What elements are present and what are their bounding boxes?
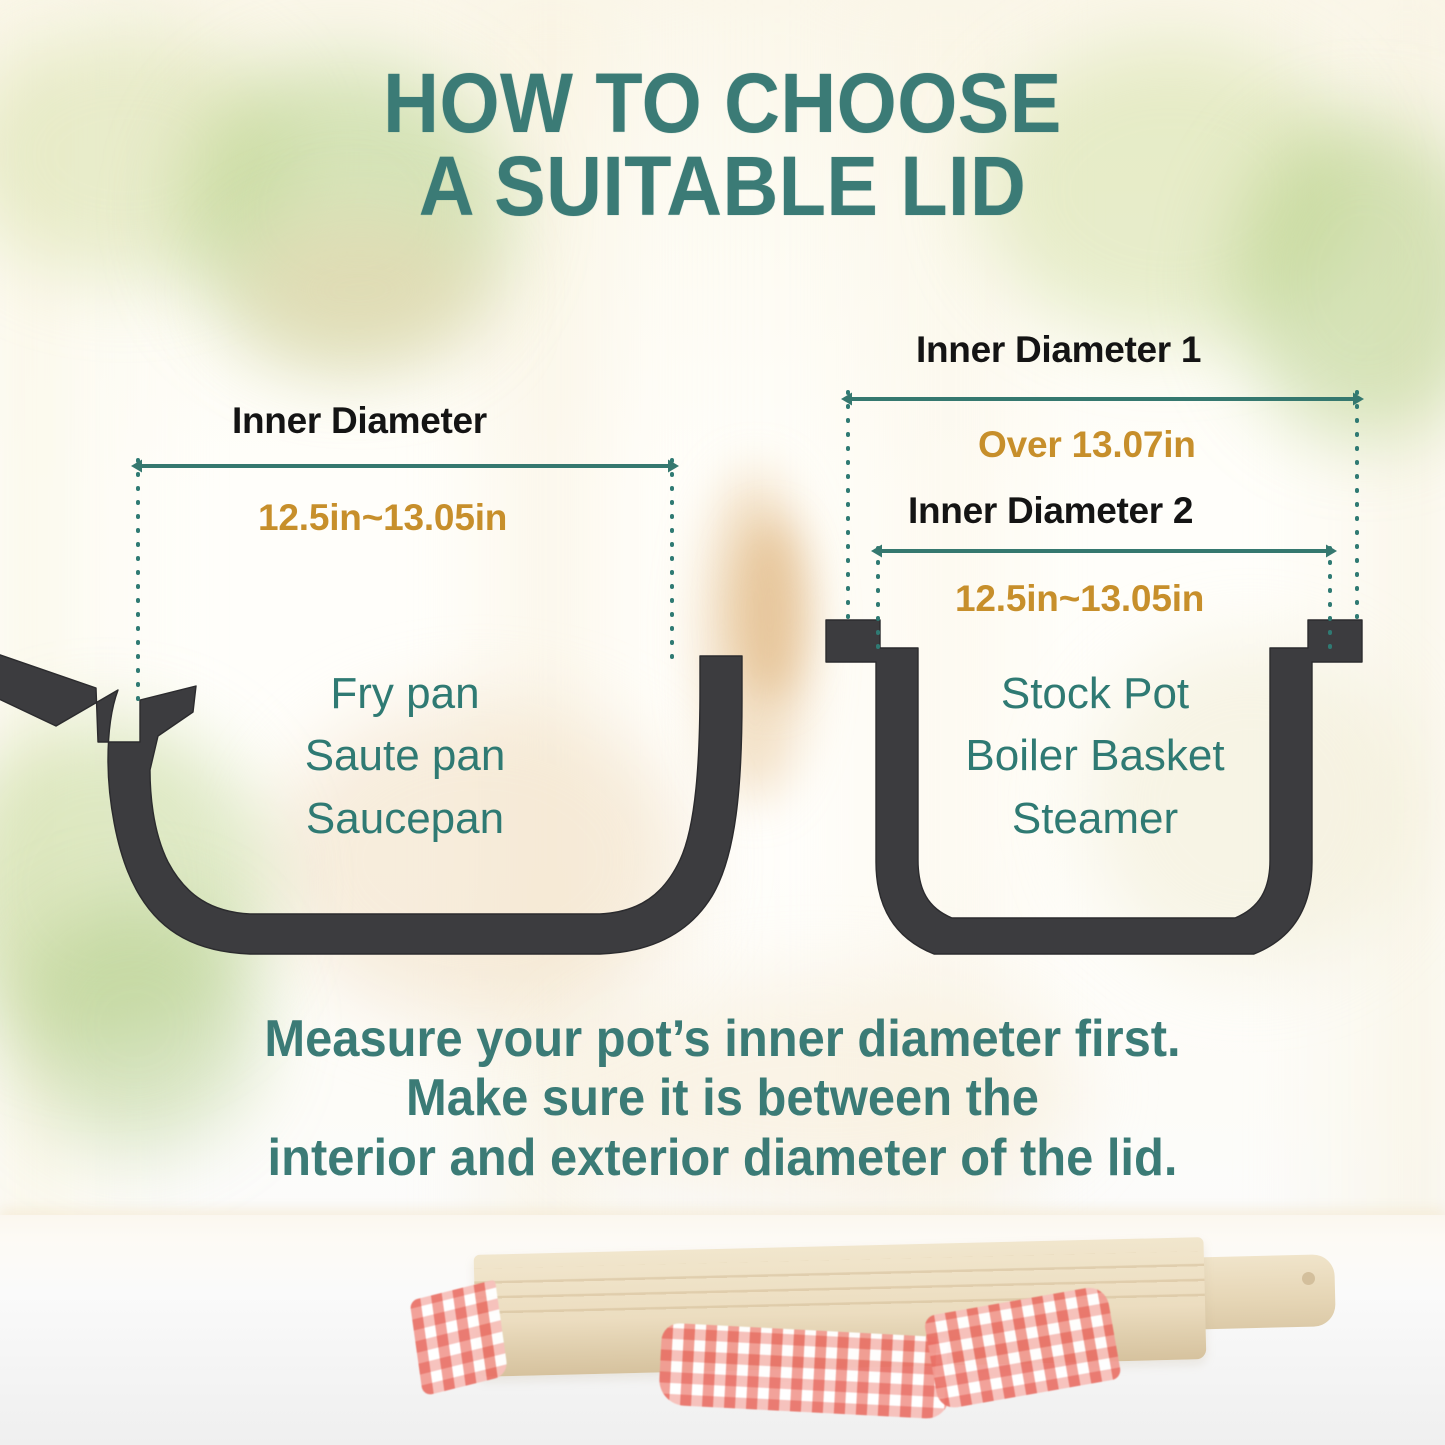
footnote-text: Measure your pot’s inner diameter first.… bbox=[100, 1010, 1346, 1188]
text-layer: HOW TO CHOOSE A SUITABLE LID Inner Diame… bbox=[0, 0, 1445, 1445]
footnote-line-1: Measure your pot’s inner diameter first. bbox=[100, 1010, 1346, 1069]
left-dimension-label: Inner Diameter bbox=[232, 400, 487, 442]
page-title-line-1: HOW TO CHOOSE bbox=[58, 62, 1387, 145]
left-cookware-item-2: Saute pan bbox=[190, 725, 620, 787]
right-cookware-item-3: Steamer bbox=[880, 788, 1310, 850]
footnote-line-3: interior and exterior diameter of the li… bbox=[100, 1129, 1346, 1188]
page-title-line-2: A SUITABLE LID bbox=[58, 145, 1387, 228]
right-dimension-2-label: Inner Diameter 2 bbox=[908, 490, 1193, 532]
page-title: HOW TO CHOOSE A SUITABLE LID bbox=[58, 62, 1387, 228]
footnote-line-2: Make sure it is between the bbox=[100, 1069, 1346, 1128]
right-dimension-1-value: Over 13.07in bbox=[978, 424, 1196, 466]
right-dimension-1-label: Inner Diameter 1 bbox=[916, 329, 1201, 371]
infographic-canvas: HOW TO CHOOSE A SUITABLE LID Inner Diame… bbox=[0, 0, 1445, 1445]
right-cookware-list: Stock Pot Boiler Basket Steamer bbox=[880, 663, 1310, 850]
left-dimension-value: 12.5in~13.05in bbox=[258, 497, 507, 539]
right-cookware-item-2: Boiler Basket bbox=[880, 725, 1310, 787]
left-cookware-list: Fry pan Saute pan Saucepan bbox=[190, 663, 620, 850]
right-cookware-item-1: Stock Pot bbox=[880, 663, 1310, 725]
right-dimension-2-value: 12.5in~13.05in bbox=[955, 578, 1204, 620]
left-cookware-item-3: Saucepan bbox=[190, 788, 620, 850]
left-cookware-item-1: Fry pan bbox=[190, 663, 620, 725]
